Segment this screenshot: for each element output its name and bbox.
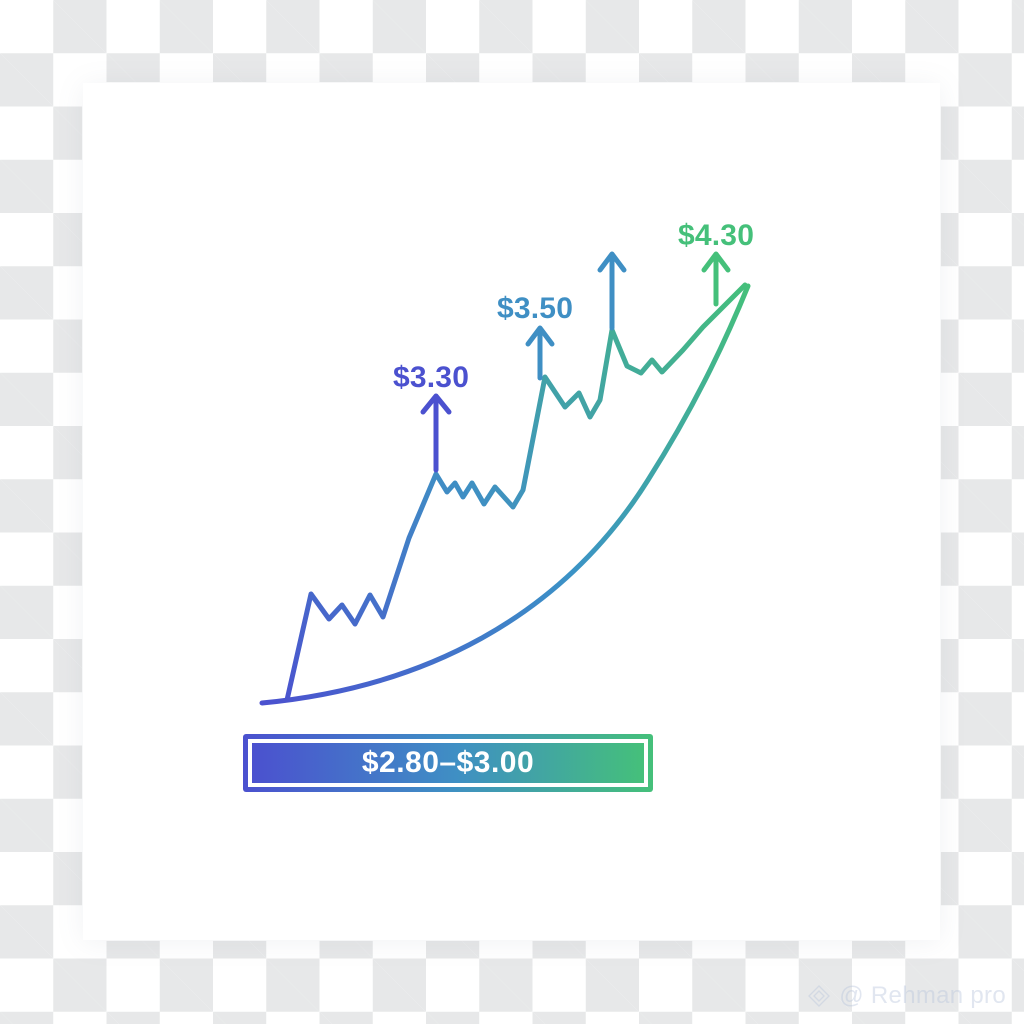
watermark: @ Rehman pro bbox=[806, 982, 1006, 1010]
price-label-350: $3.50 bbox=[497, 292, 573, 326]
price-range-banner: $2.80–$3.00 bbox=[243, 734, 653, 792]
up-arrow-icon-330 bbox=[423, 396, 449, 470]
volatile-price-line bbox=[287, 285, 745, 700]
growth-chart bbox=[0, 0, 1024, 1024]
up-arrow-icon-350 bbox=[528, 328, 552, 378]
up-arrow-icon-430 bbox=[704, 254, 728, 304]
price-range-banner-inner: $2.80–$3.00 bbox=[248, 739, 648, 787]
watermark-text: @ Rehman pro bbox=[839, 982, 1006, 1010]
diamond-logo-icon bbox=[806, 983, 832, 1009]
price-label-430: $4.30 bbox=[678, 219, 754, 253]
up-arrow-icon-mid bbox=[600, 254, 624, 328]
price-range-text: $2.80–$3.00 bbox=[362, 746, 534, 780]
price-label-330: $3.30 bbox=[393, 361, 469, 395]
